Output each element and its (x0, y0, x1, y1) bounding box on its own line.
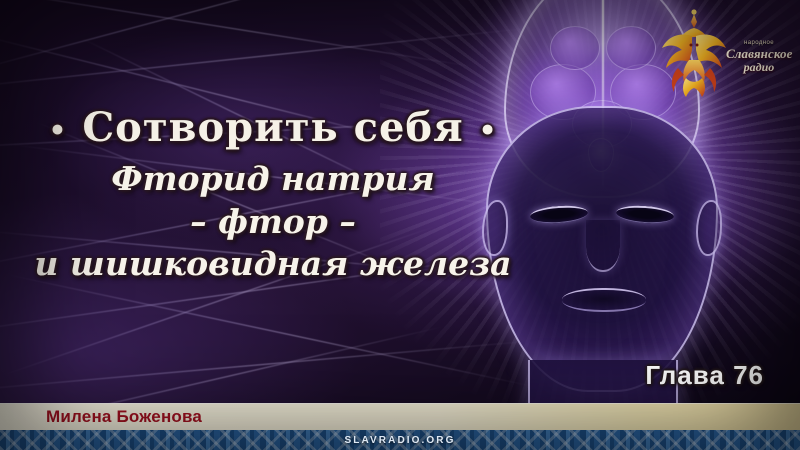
logo-mid-text: радио (726, 61, 792, 73)
title-bullet-right: • (479, 114, 498, 147)
poster-canvas: народное Славянское радио • Сотворить се… (0, 0, 800, 450)
subtitle-line-3: и шишковидная железа (0, 247, 546, 282)
slavradio-logo[interactable]: народное Славянское радио (654, 2, 794, 102)
mouth (562, 288, 646, 312)
logo-big-text: Славянское (726, 47, 792, 60)
chapter-label: Глава 76 (645, 360, 764, 391)
site-watermark: SLAVRADIO.ORG (344, 435, 455, 446)
title-bullet-left: • (49, 114, 68, 147)
author-bar: Милена Боженова (0, 403, 800, 430)
page-title: • Сотворить себя • (0, 108, 546, 148)
ornament-bar: SLAVRADIO.ORG (0, 430, 800, 450)
nose (586, 220, 620, 272)
phoenix-firebird-icon (656, 4, 732, 100)
headline-block: • Сотворить себя • Фторид натрия – фтор … (0, 108, 546, 282)
subtitle-line-1: Фторид натрия (0, 162, 546, 197)
subtitle-line-2: – фтор – (0, 205, 546, 240)
title-text: Сотворить себя (82, 104, 463, 151)
author-name: Милена Боженова (46, 407, 202, 427)
